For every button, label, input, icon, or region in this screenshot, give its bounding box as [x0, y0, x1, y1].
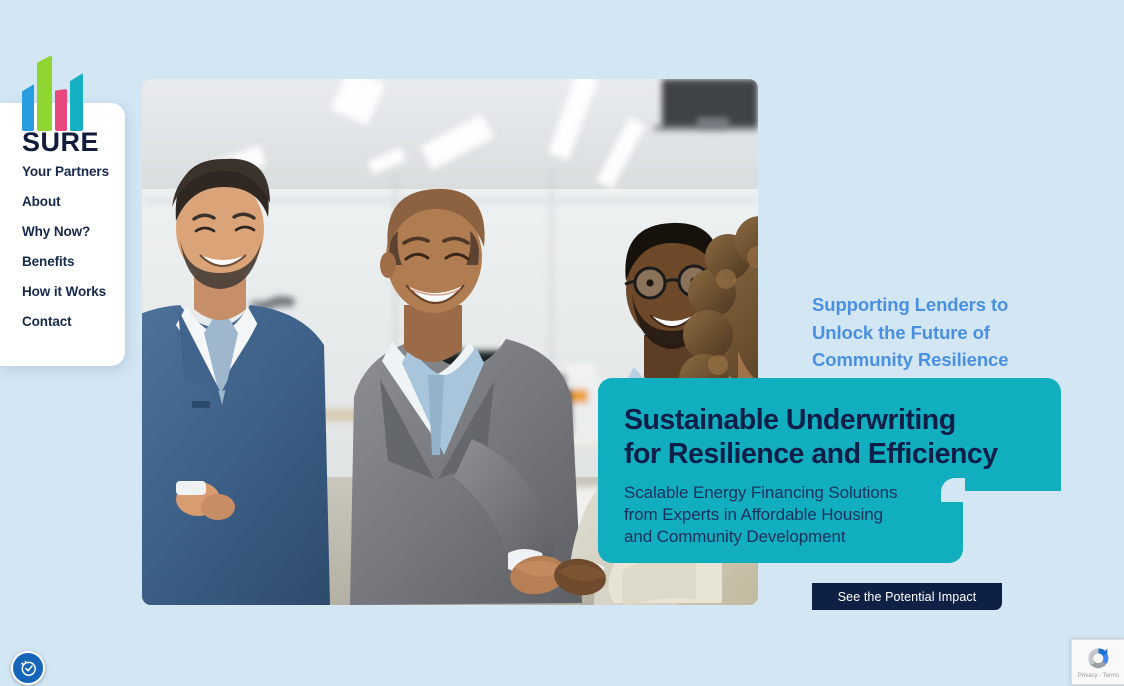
recaptcha-links[interactable]: Privacy - Terms	[1078, 672, 1119, 680]
nav-item-contact[interactable]: Contact	[22, 315, 109, 329]
see-potential-impact-button[interactable]: See the Potential Impact	[812, 583, 1002, 610]
logo-wordmark: SURE	[22, 127, 99, 158]
hero-callout: Sustainable Underwriting for Resilience …	[598, 378, 1061, 563]
nav-item-about[interactable]: About	[22, 195, 109, 209]
callout-subtitle: Scalable Energy Financing Solutions from…	[624, 482, 1061, 548]
main-navigation: Your Partners About Why Now? Benefits Ho…	[22, 165, 109, 329]
logo-bar-teal-icon	[70, 73, 83, 131]
page-root: SURE Your Partners About Why Now? Benefi…	[0, 0, 1124, 686]
hero-eyebrow-heading: Supporting Lenders to Unlock the Future …	[812, 291, 1072, 374]
callout-title: Sustainable Underwriting for Resilience …	[624, 404, 1061, 471]
callout-content: Sustainable Underwriting for Resilience …	[598, 378, 1061, 563]
nav-item-benefits[interactable]: Benefits	[22, 255, 109, 269]
recaptcha-separator: -	[1099, 673, 1101, 679]
recaptcha-icon	[1085, 645, 1112, 672]
accessibility-widget-button[interactable]	[11, 651, 45, 685]
logo-bar-pink-icon	[55, 89, 67, 131]
brand-logo[interactable]: SURE	[22, 55, 92, 145]
recaptcha-privacy-link[interactable]: Privacy	[1078, 673, 1098, 679]
logo-bars-icon	[22, 55, 84, 131]
nav-item-how-it-works[interactable]: How it Works	[22, 285, 109, 299]
recaptcha-terms-link[interactable]: Terms	[1103, 673, 1119, 679]
accessibility-clock-icon	[19, 659, 37, 677]
nav-item-why-now[interactable]: Why Now?	[22, 225, 109, 239]
logo-bar-blue-icon	[22, 84, 34, 131]
nav-item-your-partners[interactable]: Your Partners	[22, 165, 109, 179]
logo-bar-green-icon	[37, 55, 52, 131]
recaptcha-badge[interactable]: Privacy - Terms	[1071, 639, 1124, 685]
